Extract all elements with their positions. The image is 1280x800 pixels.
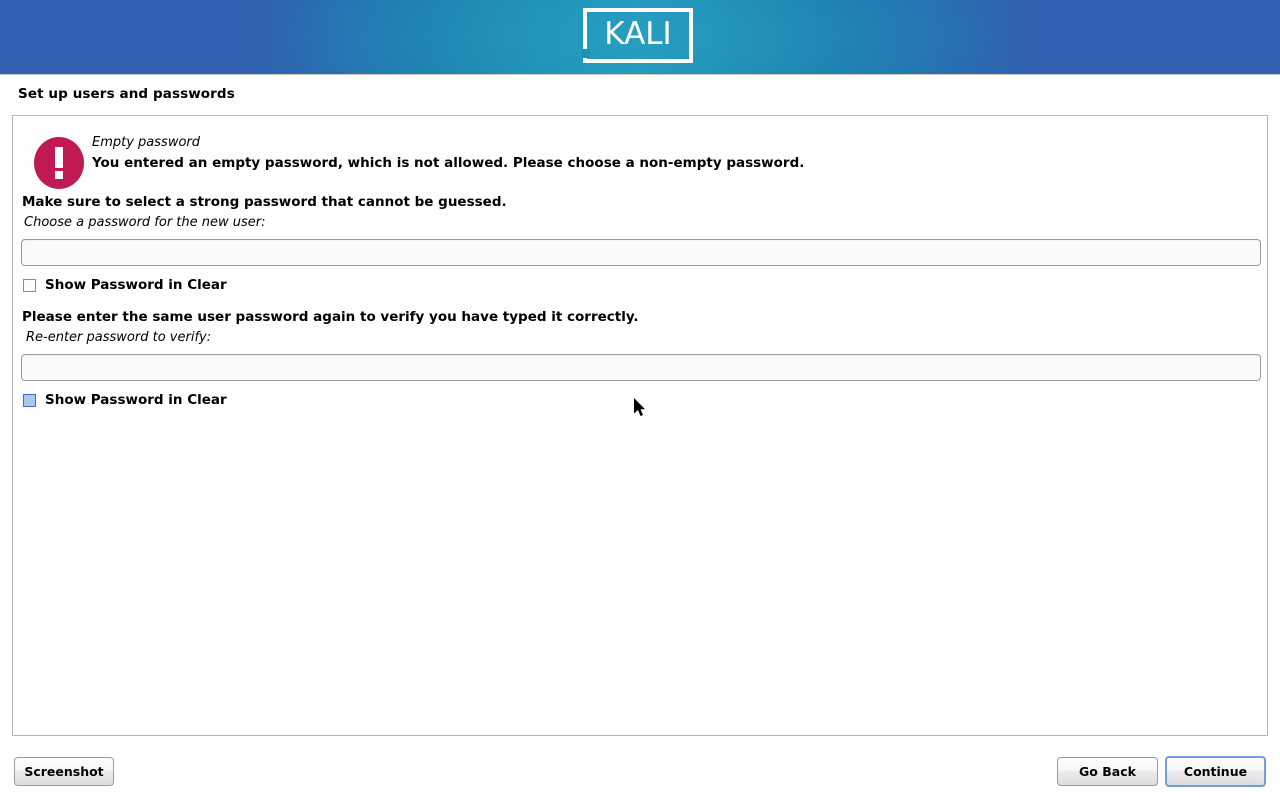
screenshot-button[interactable]: Screenshot: [14, 757, 114, 786]
banner-divider: [0, 74, 1280, 75]
show-password-checkbox-1[interactable]: [23, 279, 36, 292]
verify-field-label: Re-enter password to verify:: [26, 330, 211, 345]
kali-logo: KALI: [583, 8, 697, 67]
error-exclamation-icon: [34, 137, 84, 189]
error-description: You entered an empty password, which is …: [92, 155, 804, 171]
continue-button[interactable]: Continue: [1165, 756, 1266, 787]
kali-header-banner: KALI: [0, 0, 1280, 74]
installer-content-panel: Empty password You entered an empty pass…: [12, 115, 1268, 736]
show-password-label-2: Show Password in Clear: [45, 392, 227, 408]
page-title: Set up users and passwords: [18, 86, 235, 102]
show-password-in-clear-row-2[interactable]: Show Password in Clear: [23, 392, 227, 408]
error-message-block: Empty password You entered an empty pass…: [22, 125, 1252, 187]
verify-heading: Please enter the same user password agai…: [22, 309, 639, 325]
show-password-in-clear-row-1[interactable]: Show Password in Clear: [23, 277, 227, 293]
show-password-label-1: Show Password in Clear: [45, 277, 227, 293]
go-back-button[interactable]: Go Back: [1057, 757, 1158, 786]
password-field-label: Choose a password for the new user:: [24, 215, 266, 230]
password-input[interactable]: [21, 239, 1261, 266]
password-heading: Make sure to select a strong password th…: [22, 194, 507, 210]
error-icon-bar: [55, 147, 63, 168]
error-title: Empty password: [92, 135, 200, 150]
error-icon-dot: [55, 171, 63, 179]
verify-password-input[interactable]: [21, 354, 1261, 381]
show-password-checkbox-2[interactable]: [23, 394, 36, 407]
kali-logo-text: KALI: [583, 8, 693, 63]
